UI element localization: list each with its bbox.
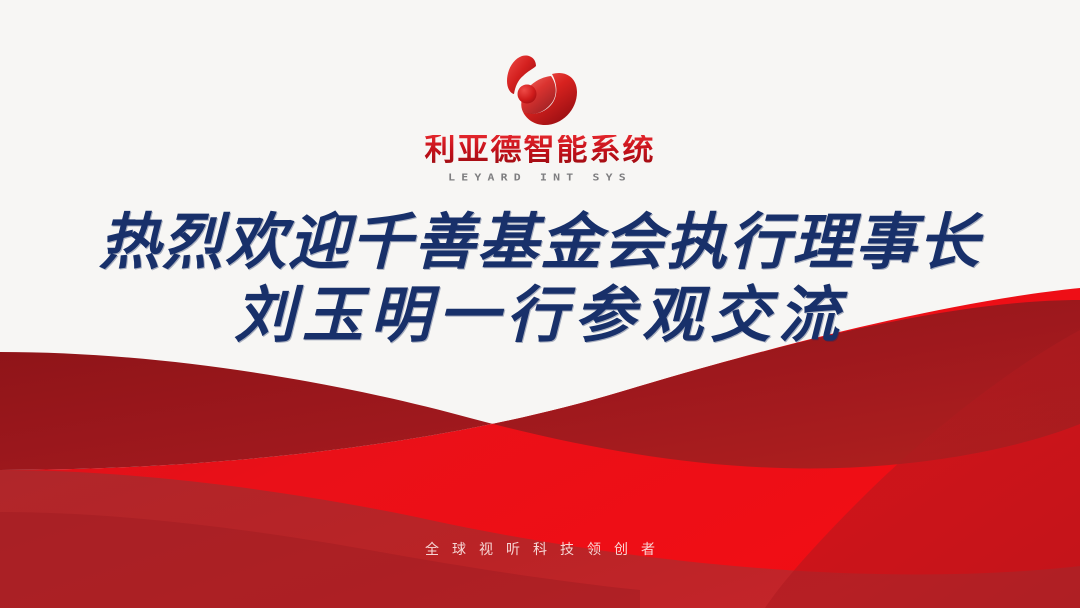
leyard-abstract-mark-icon: [492, 52, 588, 134]
logo-company-name-cn: 利亚德智能系统: [0, 135, 1080, 166]
page-title: 热烈欢迎千善基金会执行理事长 刘玉明一行参观交流: [0, 206, 1080, 352]
welcome-slide: 利亚德智能系统 LEYARD INT SYS 热烈欢迎千善基金会执行理事长 刘玉…: [0, 0, 1080, 608]
headline-line-2: 刘玉明一行参观交流: [0, 279, 1080, 352]
company-logo: 利亚德智能系统 LEYARD INT SYS: [0, 52, 1080, 184]
headline-line-1: 热烈欢迎千善基金会执行理事长: [0, 206, 1080, 279]
wave-deep-red-right: [765, 330, 1080, 608]
logo-company-name-en: LEYARD INT SYS: [0, 171, 1080, 182]
wave-bottom-left-shade: [0, 512, 640, 608]
footer-tagline: 全球视听科技领创者: [0, 539, 1080, 559]
